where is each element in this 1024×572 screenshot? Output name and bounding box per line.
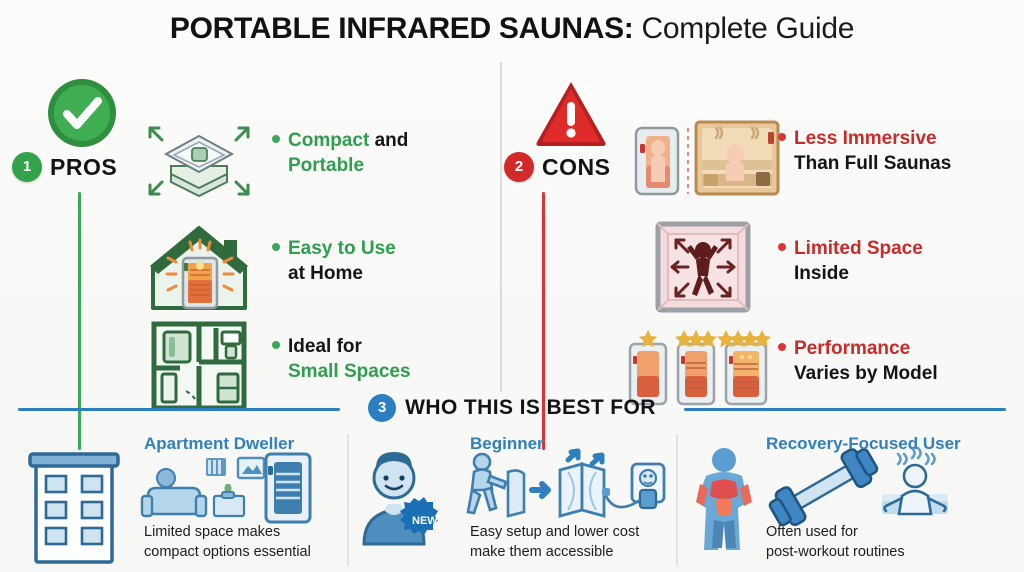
section-cons: 2 CONS: [512, 68, 1024, 398]
page-title-strong: PORTABLE INFRARED SAUNAS:: [170, 12, 634, 45]
persona-1-desc-line2: compact options essential: [144, 544, 311, 560]
persona-1-desc-line1: Limited space makes: [144, 524, 280, 540]
persona-3-title: Recovery-Focused User: [682, 434, 1024, 454]
cons-item-1: Less Immersive Than Full Saunas: [512, 108, 1024, 208]
page-title-light: Complete Guide: [633, 12, 854, 45]
cons-item-3-text: Performance Varies by Model: [778, 336, 1024, 386]
persona-3-desc: Often used for post-workout routines: [682, 522, 1024, 562]
floor-plan-icon: [140, 316, 258, 416]
bullet-dot: [778, 133, 786, 141]
pros-item-3-highlight: Ideal for: [288, 336, 362, 357]
cramped-space-icon: [644, 218, 762, 318]
bullet-dot: [272, 243, 280, 251]
pros-item-3-line2: Small Spaces: [288, 361, 411, 382]
persona-1-title: Apartment Dweller: [16, 434, 346, 454]
cons-item-1-highlight: Less Immersive: [794, 128, 937, 149]
portable-vs-full-sauna-icon: [632, 108, 782, 208]
band-rule-left: [18, 408, 340, 411]
persona-recovery-focused-user: Recovery-Focused User Often used for pos…: [682, 430, 1024, 572]
page-title: PORTABLE INFRARED SAUNAS: Complete Guide: [0, 12, 1024, 46]
person-on-couch-with-sauna-icon: [16, 456, 346, 524]
cons-item-1-text: Less Immersive Than Full Saunas: [778, 126, 1024, 176]
dumbbell-and-relaxing-person-icon: [682, 456, 1024, 524]
band-header: 3WHO THIS IS BEST FOR: [340, 394, 684, 426]
persona-apartment-dweller: Apartment Dweller Limited space makes co…: [16, 430, 346, 572]
pros-item-2: Easy to Use at Home: [0, 218, 494, 318]
pros-item-1-rest: and: [369, 130, 408, 151]
pros-item-1-line2: Portable: [288, 155, 364, 176]
column-divider: [500, 62, 502, 392]
persona-2-title: Beginner: [352, 434, 672, 454]
band-title: WHO THIS IS BEST FOR: [405, 396, 656, 419]
pros-item-3-text: Ideal for Small Spaces: [272, 334, 487, 384]
bullet-dot: [778, 343, 786, 351]
pros-item-2-line2: at Home: [288, 263, 363, 284]
band-number-badge: 3: [368, 394, 396, 422]
persona-2-desc-line2: make them accessible: [470, 544, 613, 560]
pros-item-1: Compact and Portable: [0, 110, 494, 210]
cons-item-2-highlight: Limited Space: [794, 238, 923, 259]
cons-item-2-line2: Inside: [794, 263, 849, 284]
persona-2-desc-line1: Easy setup and lower cost: [470, 524, 639, 540]
cons-item-3-line2: Varies by Model: [794, 363, 938, 384]
persona-beginner: NEW: [352, 430, 672, 572]
house-with-sauna-icon: [140, 218, 258, 318]
persona-2-desc: Easy setup and lower cost make them acce…: [352, 522, 672, 562]
bullet-dot: [778, 243, 786, 251]
cons-item-2-text: Limited Space Inside: [778, 236, 1024, 286]
bullet-dot: [272, 341, 280, 349]
folding-sauna-blanket-icon: [140, 110, 258, 210]
bullet-dot: [272, 135, 280, 143]
pros-item-2-highlight: Easy to Use: [288, 238, 396, 259]
pros-item-2-text: Easy to Use at Home: [272, 236, 487, 286]
pros-item-1-highlight: Compact: [288, 130, 369, 151]
persona-3-desc-line1: Often used for: [766, 524, 858, 540]
pros-item-1-text: Compact and Portable: [272, 128, 487, 178]
cons-item-2: Limited Space Inside: [512, 218, 1024, 318]
persona-3-desc-line2: post-workout routines: [766, 544, 905, 560]
section-pros: 1 PROS: [0, 68, 494, 398]
band-rule-right: [684, 408, 1006, 411]
persona-1-desc: Limited space makes compact options esse…: [16, 522, 346, 562]
cons-item-1-line2: Than Full Saunas: [794, 153, 951, 174]
easy-setup-plug-icon: [352, 456, 672, 524]
cons-item-3-highlight: Performance: [794, 338, 910, 359]
infographic-page: PORTABLE INFRARED SAUNAS: Complete Guide…: [0, 0, 1024, 572]
